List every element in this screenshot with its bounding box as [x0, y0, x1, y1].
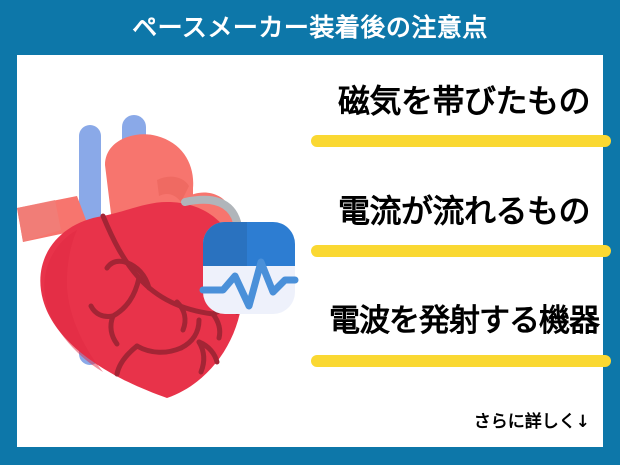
list-item-label: 磁気を帯びたもの [307, 73, 620, 129]
slide-canvas: ペースメーカー装着後の注意点 [0, 0, 620, 465]
list-item-label: 電流が流れるもの [307, 183, 620, 239]
content-card: 磁気を帯びたもの 電流が流れるもの 電波を発射する機器 さらに詳しく ↓ [17, 55, 603, 447]
title-bar: ペースメーカー装着後の注意点 [0, 0, 620, 55]
caution-item-list: 磁気を帯びたもの 電流が流れるもの 電波を発射する機器 [307, 73, 620, 413]
list-item-underline [311, 355, 611, 367]
list-item-underline [311, 245, 611, 257]
list-item-underline [311, 135, 611, 147]
list-item[interactable]: 電波を発射する機器 [307, 293, 620, 393]
list-item[interactable]: 磁気を帯びたもの [307, 73, 620, 173]
page-title: ペースメーカー装着後の注意点 [132, 15, 488, 40]
arrow-down-icon: ↓ [576, 414, 590, 431]
read-more-label: さらに詳しく [474, 414, 576, 431]
read-more-link[interactable]: さらに詳しく ↓ [474, 414, 590, 431]
list-item[interactable]: 電流が流れるもの [307, 183, 620, 283]
list-item-label: 電波を発射する機器 [307, 293, 620, 349]
pacemaker-device [203, 222, 295, 314]
heart-with-pacemaker-illustration [17, 110, 307, 410]
